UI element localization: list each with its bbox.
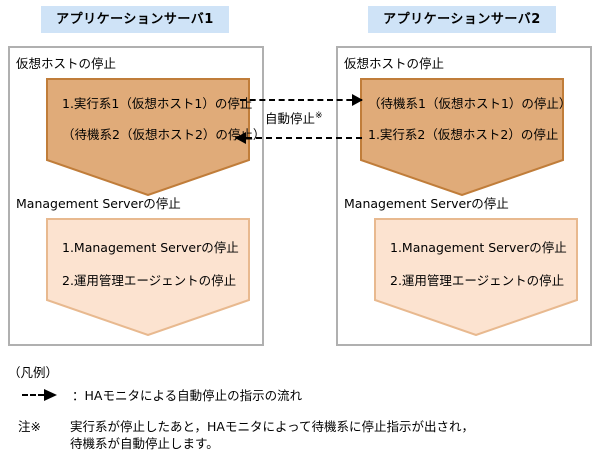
connector-label-auto-stop: 自動停止※: [264, 108, 324, 127]
server-header-2: アプリケーションサーバ2: [368, 6, 556, 33]
dashed-line: [236, 137, 362, 139]
legend-row-arrow: ：HAモニタによる自動停止の指示の流れ: [22, 385, 302, 404]
connector-label-text: 自動停止: [265, 111, 315, 126]
footnote-line: 待機系が自動停止します。: [70, 435, 474, 452]
footnote-line: 実行系が停止したあと，HAモニタによって待機系に停止指示が出され，: [70, 418, 474, 435]
footnote-mark: ※: [315, 111, 323, 121]
step-line: 1.Management Serverの停止: [62, 240, 250, 255]
step-line: 2.運用管理エージェントの停止: [62, 273, 250, 288]
dashed-line-segment: [22, 394, 44, 396]
step-box-lines: 1.Management Serverの停止 2.運用管理エージェントの停止: [374, 240, 578, 288]
step-line: 1.Management Serverの停止: [390, 240, 578, 255]
footnote-mark-label: 注※: [18, 418, 70, 435]
section-caption-management-server-stop-2: Management Serverの停止: [344, 196, 509, 212]
section-caption-management-server-stop-1: Management Serverの停止: [16, 196, 181, 212]
server-panel-1: 仮想ホストの停止 1.実行系1（仮想ホスト1）の停止 （待機系2（仮想ホスト2）…: [8, 46, 264, 346]
server-header-1: アプリケーションサーバ1: [41, 6, 229, 33]
step-box-virtual-host-stop-1: 1.実行系1（仮想ホスト1）の停止 （待機系2（仮想ホスト2）の停止）: [46, 78, 250, 196]
legend-arrow-description: ：HAモニタによる自動停止の指示の流れ: [72, 385, 302, 404]
step-line: （待機系1（仮想ホスト1）の停止）: [368, 96, 564, 111]
server-panel-2: 仮想ホストの停止 （待機系1（仮想ホスト1）の停止） 1.実行系2（仮想ホスト2…: [336, 46, 592, 346]
legend-title: （凡例）: [8, 362, 58, 381]
arrow-head-right-icon: [352, 94, 363, 106]
section-caption-virtual-host-stop-1: 仮想ホストの停止: [16, 56, 116, 72]
step-box-lines: 1.実行系1（仮想ホスト1）の停止 （待機系2（仮想ホスト2）の停止）: [46, 96, 250, 142]
step-box-management-server-stop-1: 1.Management Serverの停止 2.運用管理エージェントの停止: [46, 218, 250, 336]
step-line: 1.実行系1（仮想ホスト1）の停止: [62, 96, 250, 111]
diagram-canvas: アプリケーションサーバ1 アプリケーションサーバ2 仮想ホストの停止 1.実行系…: [0, 0, 600, 457]
step-line: 1.実行系2（仮想ホスト2）の停止: [368, 127, 564, 142]
arrow-head-icon: [44, 389, 57, 401]
step-box-lines: （待機系1（仮想ホスト1）の停止） 1.実行系2（仮想ホスト2）の停止: [360, 96, 564, 142]
step-line: 2.運用管理エージェントの停止: [390, 273, 578, 288]
arrow-head-left-icon: [235, 132, 246, 144]
footnote-body: 実行系が停止したあと，HAモニタによって待機系に停止指示が出され， 待機系が自動…: [70, 418, 474, 452]
step-box-management-server-stop-2: 1.Management Serverの停止 2.運用管理エージェントの停止: [374, 218, 578, 336]
connector-arrow-to-server1: [236, 137, 362, 139]
step-box-virtual-host-stop-2: （待機系1（仮想ホスト1）の停止） 1.実行系2（仮想ホスト2）の停止: [360, 78, 564, 196]
connector-arrow-to-server2: [240, 99, 362, 101]
step-box-lines: 1.Management Serverの停止 2.運用管理エージェントの停止: [46, 240, 250, 288]
dashed-arrow-icon: [22, 389, 66, 401]
step-line: （待機系2（仮想ホスト2）の停止）: [62, 127, 250, 142]
section-caption-virtual-host-stop-2: 仮想ホストの停止: [344, 56, 444, 72]
footnote-block: 注※ 実行系が停止したあと，HAモニタによって待機系に停止指示が出され， 待機系…: [18, 418, 474, 452]
dashed-line: [240, 99, 362, 101]
